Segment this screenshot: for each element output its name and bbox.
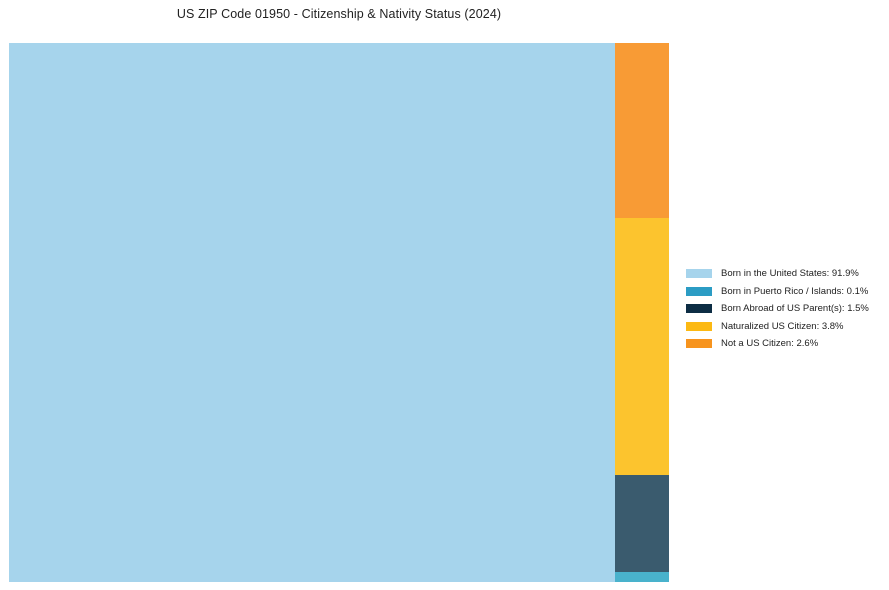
legend-item-not-a-us-citizen[interactable]: Not a US Citizen: 2.6% <box>686 335 881 353</box>
legend-swatch-icon <box>686 322 712 331</box>
legend-swatch-icon <box>686 304 712 313</box>
legend-item-naturalized-us-citizen[interactable]: Naturalized US Citizen: 3.8% <box>686 318 881 336</box>
legend-swatch-icon <box>686 269 712 278</box>
treemap-tile-born-in-puerto-rico-islands[interactable] <box>615 572 669 582</box>
legend-swatch-icon <box>686 339 712 348</box>
chart-legend: Born in the United States: 91.9% Born in… <box>686 265 881 353</box>
treemap-tile-not-a-us-citizen[interactable] <box>615 43 669 218</box>
legend-item-label: Born Abroad of US Parent(s): 1.5% <box>721 303 869 314</box>
legend-item-born-in-the-united-states[interactable]: Born in the United States: 91.9% <box>686 265 881 283</box>
legend-item-born-in-puerto-rico-islands[interactable]: Born in Puerto Rico / Islands: 0.1% <box>686 283 881 301</box>
treemap-chart: US ZIP Code 01950 - Citizenship & Nativi… <box>0 0 889 590</box>
legend-item-label: Not a US Citizen: 2.6% <box>721 338 818 349</box>
legend-item-label: Born in Puerto Rico / Islands: 0.1% <box>721 286 868 297</box>
legend-item-label: Naturalized US Citizen: 3.8% <box>721 321 844 332</box>
legend-item-label: Born in the United States: 91.9% <box>721 268 859 279</box>
legend-swatch-icon <box>686 287 712 296</box>
treemap-tile-born-abroad-of-us-parents[interactable] <box>615 475 669 572</box>
treemap-plot-area <box>9 43 669 582</box>
treemap-tile-born-in-the-united-states[interactable] <box>9 43 615 582</box>
treemap-tile-naturalized-us-citizen[interactable] <box>615 218 669 475</box>
legend-item-born-abroad-of-us-parents[interactable]: Born Abroad of US Parent(s): 1.5% <box>686 300 881 318</box>
chart-title: US ZIP Code 01950 - Citizenship & Nativi… <box>0 7 678 21</box>
